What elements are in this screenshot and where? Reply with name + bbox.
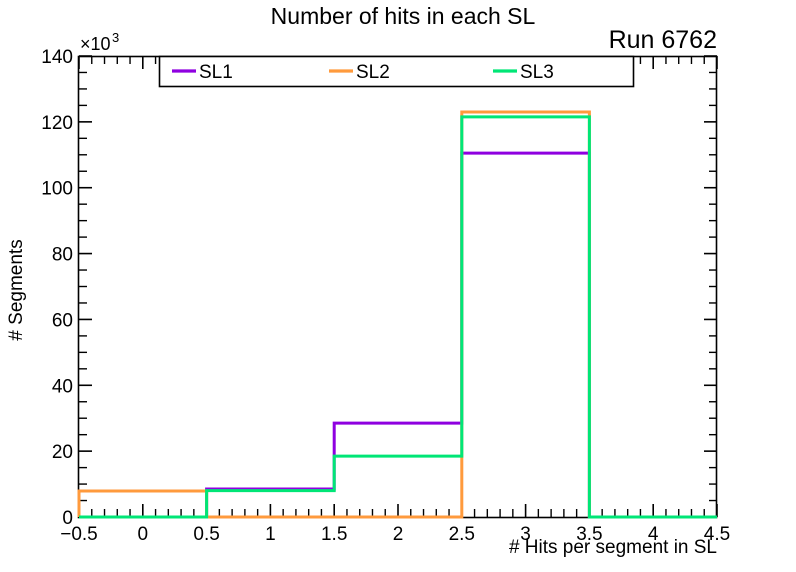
series-group — [79, 112, 717, 517]
x-axis-ticks — [79, 56, 717, 517]
x-tick-label: 3 — [520, 524, 531, 545]
x-tick-label: 0.5 — [193, 524, 219, 545]
y-axis-tick-labels: 020406080100120140 — [41, 47, 73, 529]
histogram-plot: Number of hits in each SL Run 6762 ×10 3… — [0, 0, 796, 572]
legend-label-sl3[interactable]: SL3 — [520, 62, 554, 83]
run-annotation: Run 6762 — [609, 26, 717, 54]
x-tick-label: 4 — [648, 524, 659, 545]
x-tick-label: 4.5 — [704, 524, 730, 545]
hist-series-sl1 — [79, 153, 717, 517]
root-canvas: Number of hits in each SL Run 6762 ×10 3… — [0, 0, 796, 572]
x-axis-title: # Hits per segment in SL — [509, 537, 717, 558]
y-axis-title: # Segments — [6, 239, 27, 340]
y-tick-label: 60 — [52, 310, 73, 331]
chart-legend[interactable]: SL1SL2SL3 — [160, 57, 634, 87]
x-tick-label: 3.5 — [576, 524, 602, 545]
y-axis-ticks — [79, 56, 717, 517]
x-tick-label: 2 — [393, 524, 404, 545]
y-axis-multiplier: ×10 3 — [80, 30, 119, 54]
hist-series-sl3 — [79, 117, 717, 517]
y-tick-label: 120 — [41, 113, 73, 134]
x-tick-label: 1.5 — [321, 524, 347, 545]
y-multiplier-exponent: 3 — [112, 30, 119, 45]
x-tick-label: 0 — [138, 524, 149, 545]
y-tick-label: 100 — [41, 179, 73, 200]
y-tick-label: 80 — [52, 245, 73, 266]
legend-label-sl2[interactable]: SL2 — [356, 62, 390, 83]
y-multiplier-base: ×10 — [80, 34, 111, 54]
plot-frame — [79, 57, 717, 518]
legend-label-sl1[interactable]: SL1 — [199, 62, 233, 83]
x-tick-label: −0.5 — [60, 524, 98, 545]
page-title: Number of hits in each SL — [271, 3, 536, 29]
y-tick-label: 140 — [41, 47, 73, 68]
y-tick-label: 40 — [52, 376, 73, 397]
x-tick-label: 1 — [265, 524, 276, 545]
y-tick-label: 20 — [52, 442, 73, 463]
x-tick-label: 2.5 — [449, 524, 475, 545]
